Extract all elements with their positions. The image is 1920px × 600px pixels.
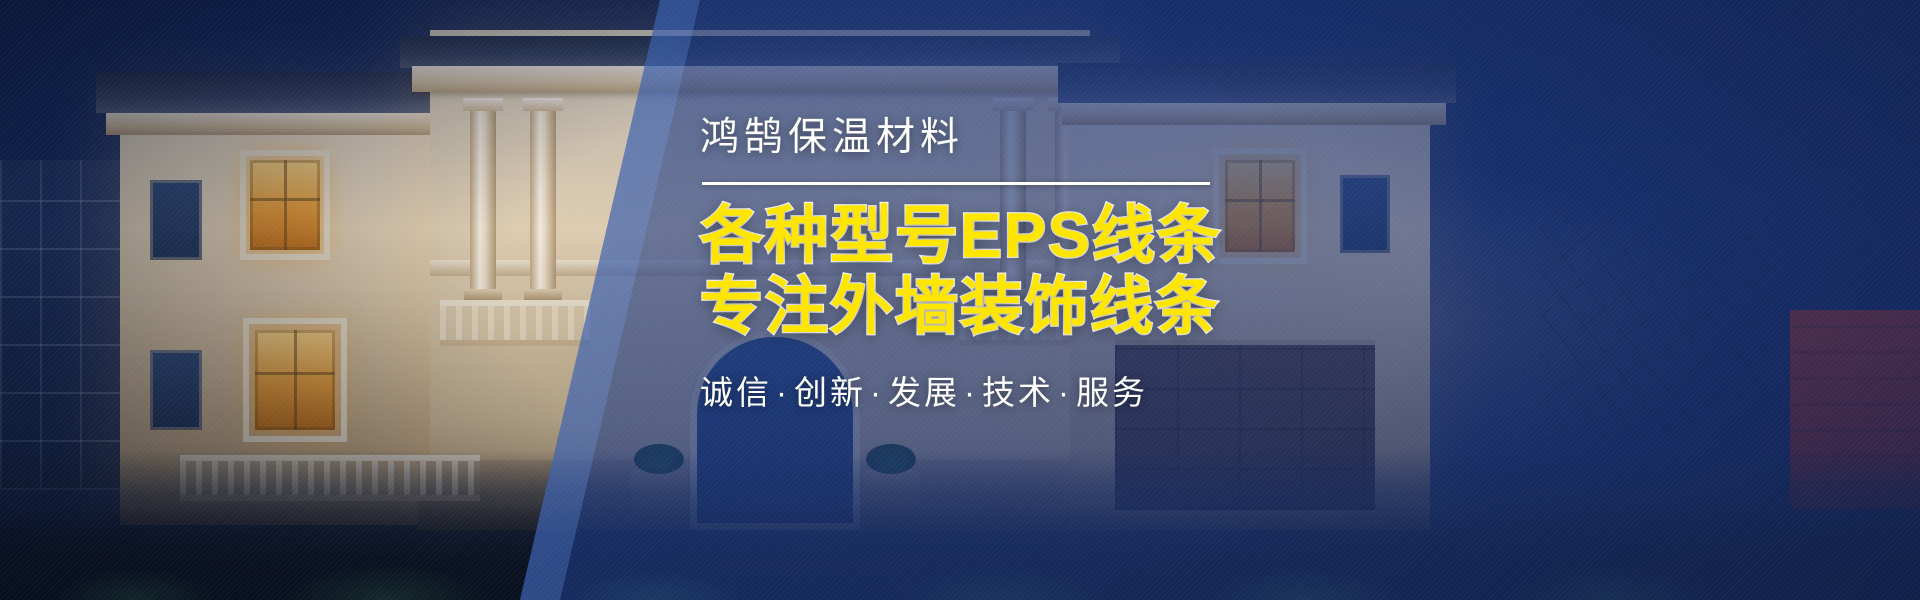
divider-rule: [702, 182, 1210, 185]
tagline-item: 服务: [1076, 374, 1148, 411]
tagline-item: 创新: [794, 374, 866, 411]
hero-banner: 鸿鹄保温材料 各种型号EPS线条 专注外墙装饰线条 诚信·创新·发展·技术·服务: [0, 0, 1920, 600]
brand-name: 鸿鹄保温材料: [700, 118, 1400, 157]
headline-line-1: 各种型号EPS线条: [700, 201, 1400, 272]
tagline: 诚信·创新·发展·技术·服务: [700, 376, 1400, 409]
tagline-separator: ·: [960, 374, 982, 411]
tagline-item: 技术: [982, 374, 1054, 411]
tagline-separator: ·: [866, 374, 888, 411]
banner-copy: 鸿鹄保温材料 各种型号EPS线条 专注外墙装饰线条 诚信·创新·发展·技术·服务: [700, 118, 1400, 409]
tagline-item: 诚信: [700, 374, 772, 411]
tagline-separator: ·: [772, 374, 794, 411]
tagline-separator: ·: [1054, 374, 1076, 411]
tagline-item: 发展: [888, 374, 960, 411]
headline-line-2: 专注外墙装饰线条: [700, 272, 1400, 343]
